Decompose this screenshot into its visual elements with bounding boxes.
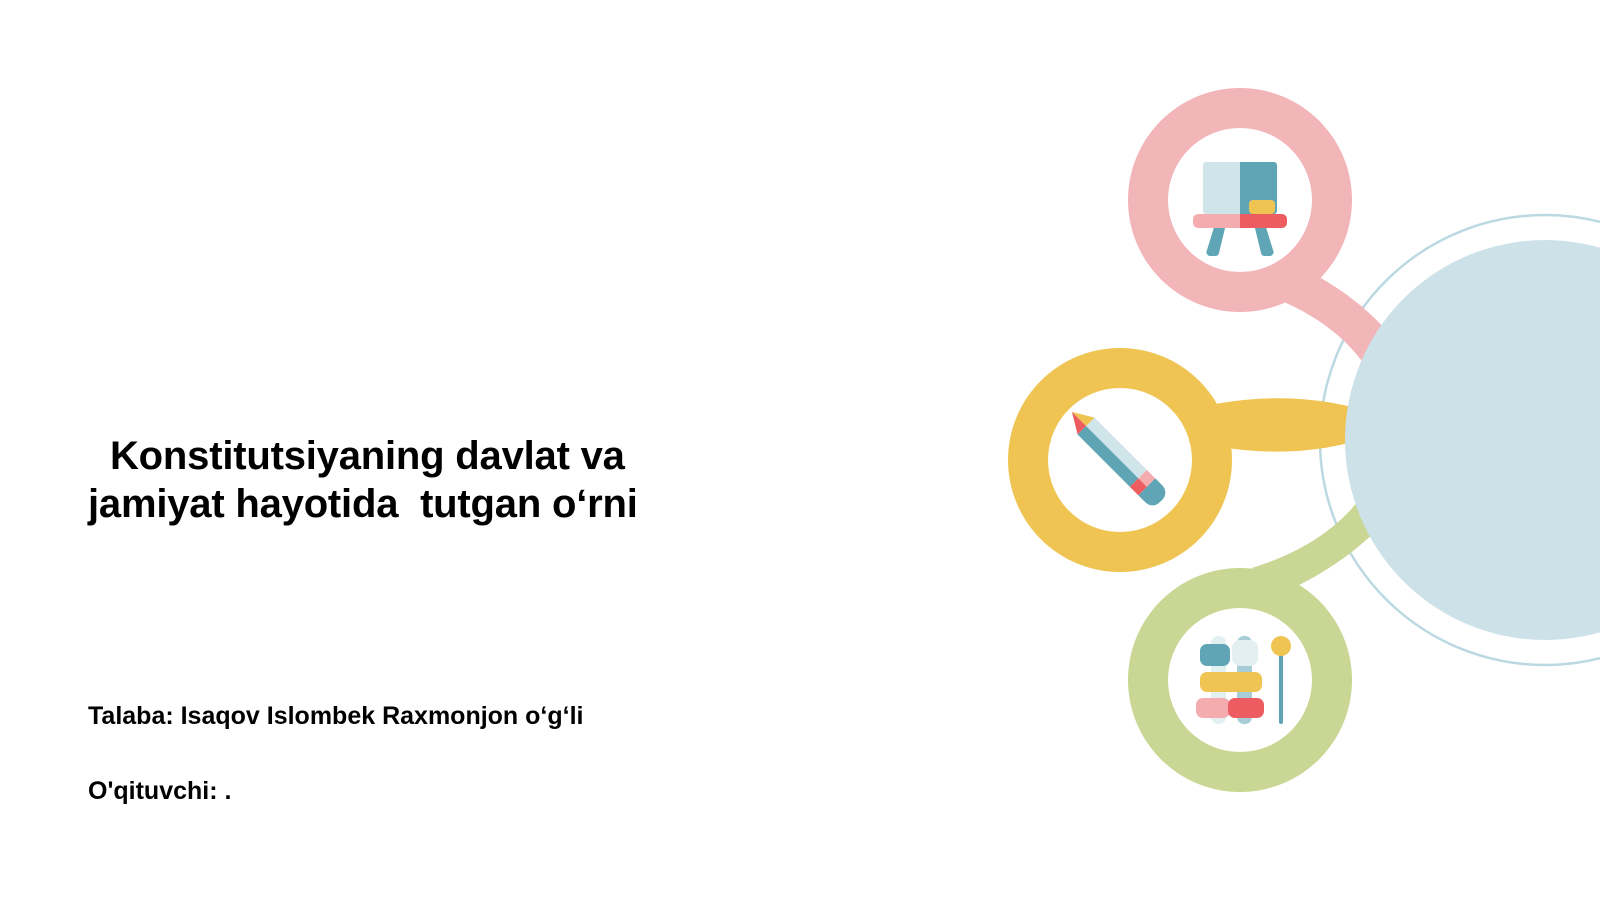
- education-bubbles-illustration: [960, 40, 1600, 860]
- node-pencil: [1008, 348, 1232, 572]
- student-name-line: Talaba: Isaqov Islombek Raxmonjon o‘g‘li: [88, 700, 868, 732]
- subtitle-block: Talaba: Isaqov Islombek Raxmonjon o‘g‘li…: [88, 700, 868, 807]
- title-line-1: Konstitutsiyaning davlat va: [88, 432, 848, 480]
- page-title: Konstitutsiyaning davlat va jamiyat hayo…: [88, 432, 848, 528]
- slide-root: Konstitutsiyaning davlat va jamiyat hayo…: [0, 0, 1600, 900]
- text-column: Konstitutsiyaning davlat va jamiyat hayo…: [0, 0, 900, 900]
- title-line-2: jamiyat hayotida tutgan o‘rni: [88, 480, 848, 528]
- node-abacus: [1128, 568, 1352, 792]
- hub-circle: [1345, 240, 1600, 640]
- teacher-name-line: O'qituvchi: .: [88, 775, 868, 807]
- illustration-svg: [960, 40, 1600, 860]
- node-easel: [1128, 88, 1352, 312]
